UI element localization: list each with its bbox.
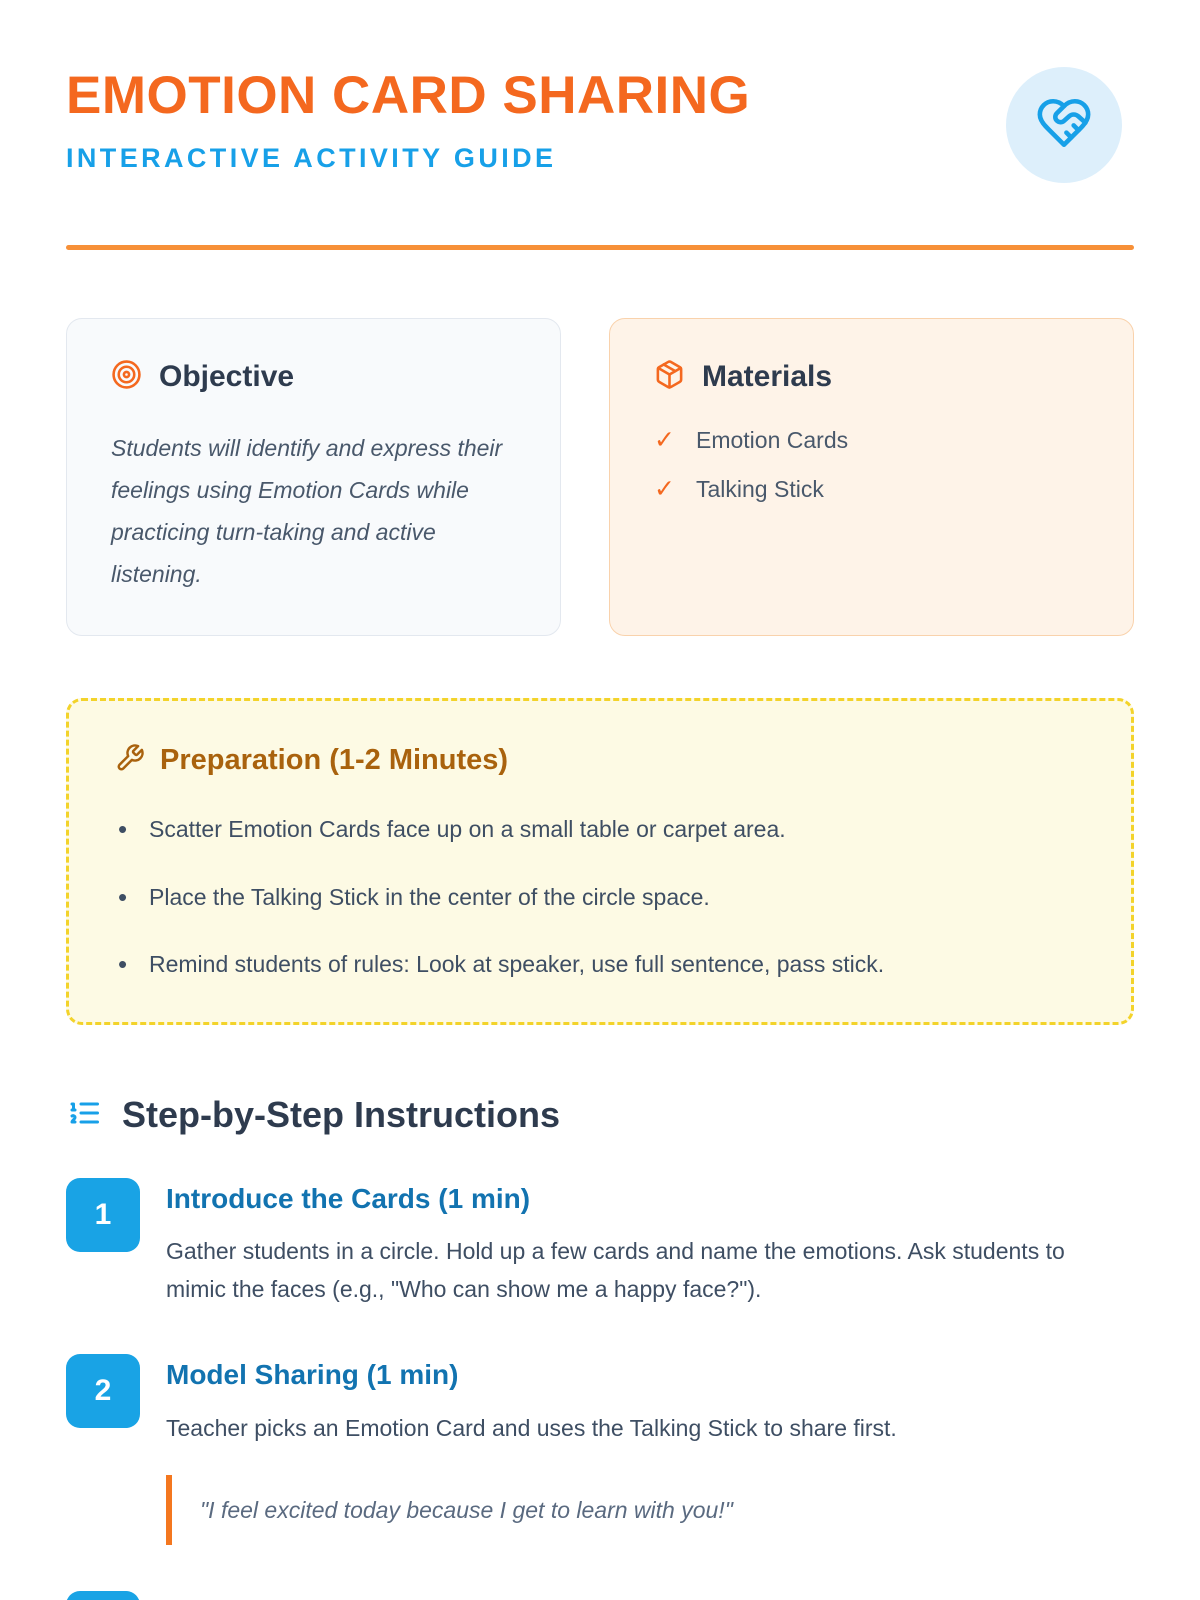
preparation-box: Preparation (1-2 Minutes) Scatter Emotio… bbox=[66, 698, 1134, 1025]
step-number-badge: 3 bbox=[66, 1591, 140, 1600]
step-title: Introduce the Cards (1 min) bbox=[166, 1182, 1134, 1216]
heart-handshake-icon bbox=[1035, 94, 1093, 157]
page-title: EMOTION CARD SHARING bbox=[66, 68, 750, 124]
material-label: Emotion Cards bbox=[696, 427, 848, 454]
summary-card-row: Objective Students will identify and exp… bbox=[66, 318, 1134, 636]
step-body: Model Sharing (1 min) Teacher picks an E… bbox=[166, 1354, 1134, 1545]
list-item: ✓ Emotion Cards bbox=[654, 427, 1091, 454]
step-description: Gather students in a circle. Hold up a f… bbox=[166, 1233, 1071, 1308]
steps-list: 1 Introduce the Cards (1 min) Gather stu… bbox=[66, 1178, 1134, 1600]
list-item: ✓ Talking Stick bbox=[654, 476, 1091, 503]
package-icon bbox=[654, 359, 685, 395]
list-item: Remind students of rules: Look at speake… bbox=[149, 947, 1085, 982]
step-item: 3 bbox=[66, 1591, 1134, 1600]
target-icon bbox=[111, 359, 142, 395]
materials-card: Materials ✓ Emotion Cards ✓ Talking Stic… bbox=[609, 318, 1134, 636]
step-title: Model Sharing (1 min) bbox=[166, 1358, 1134, 1392]
step-body: Introduce the Cards (1 min) Gather stude… bbox=[166, 1178, 1134, 1308]
instructions-header: Step-by-Step Instructions bbox=[66, 1095, 1134, 1136]
objective-card-header: Objective bbox=[111, 359, 518, 395]
ordered-list-icon bbox=[66, 1095, 102, 1136]
objective-card-title: Objective bbox=[159, 362, 294, 392]
material-label: Talking Stick bbox=[696, 476, 824, 503]
check-icon: ✓ bbox=[654, 477, 678, 502]
activity-guide-page: EMOTION CARD SHARING INTERACTIVE ACTIVIT… bbox=[0, 0, 1200, 1600]
step-description: Teacher picks an Emotion Card and uses t… bbox=[166, 1410, 1071, 1447]
materials-list: ✓ Emotion Cards ✓ Talking Stick bbox=[654, 427, 1091, 503]
page-header: EMOTION CARD SHARING INTERACTIVE ACTIVIT… bbox=[66, 62, 1134, 183]
objective-card: Objective Students will identify and exp… bbox=[66, 318, 561, 636]
materials-card-title: Materials bbox=[702, 362, 832, 392]
step-item: 2 Model Sharing (1 min) Teacher picks an… bbox=[66, 1354, 1134, 1545]
preparation-header: Preparation (1-2 Minutes) bbox=[115, 743, 1085, 778]
preparation-title: Preparation (1-2 Minutes) bbox=[160, 746, 508, 775]
step-quote: "I feel excited today because I get to l… bbox=[166, 1475, 1134, 1546]
list-item: Scatter Emotion Cards face up on a small… bbox=[149, 812, 1085, 847]
preparation-list: Scatter Emotion Cards face up on a small… bbox=[115, 812, 1085, 982]
materials-card-header: Materials bbox=[654, 359, 1091, 395]
wrench-icon bbox=[115, 743, 145, 778]
objective-text: Students will identify and express their… bbox=[111, 427, 518, 595]
check-icon: ✓ bbox=[654, 428, 678, 453]
header-badge bbox=[1006, 67, 1122, 183]
step-number-badge: 1 bbox=[66, 1178, 140, 1252]
step-number-badge: 2 bbox=[66, 1354, 140, 1428]
list-item: Place the Talking Stick in the center of… bbox=[149, 880, 1085, 915]
step-body bbox=[166, 1591, 1134, 1600]
header-text-block: EMOTION CARD SHARING INTERACTIVE ACTIVIT… bbox=[66, 62, 750, 174]
header-divider bbox=[66, 245, 1134, 250]
instructions-heading: Step-by-Step Instructions bbox=[122, 1097, 560, 1133]
page-subtitle: INTERACTIVE ACTIVITY GUIDE bbox=[66, 144, 750, 174]
step-item: 1 Introduce the Cards (1 min) Gather stu… bbox=[66, 1178, 1134, 1308]
